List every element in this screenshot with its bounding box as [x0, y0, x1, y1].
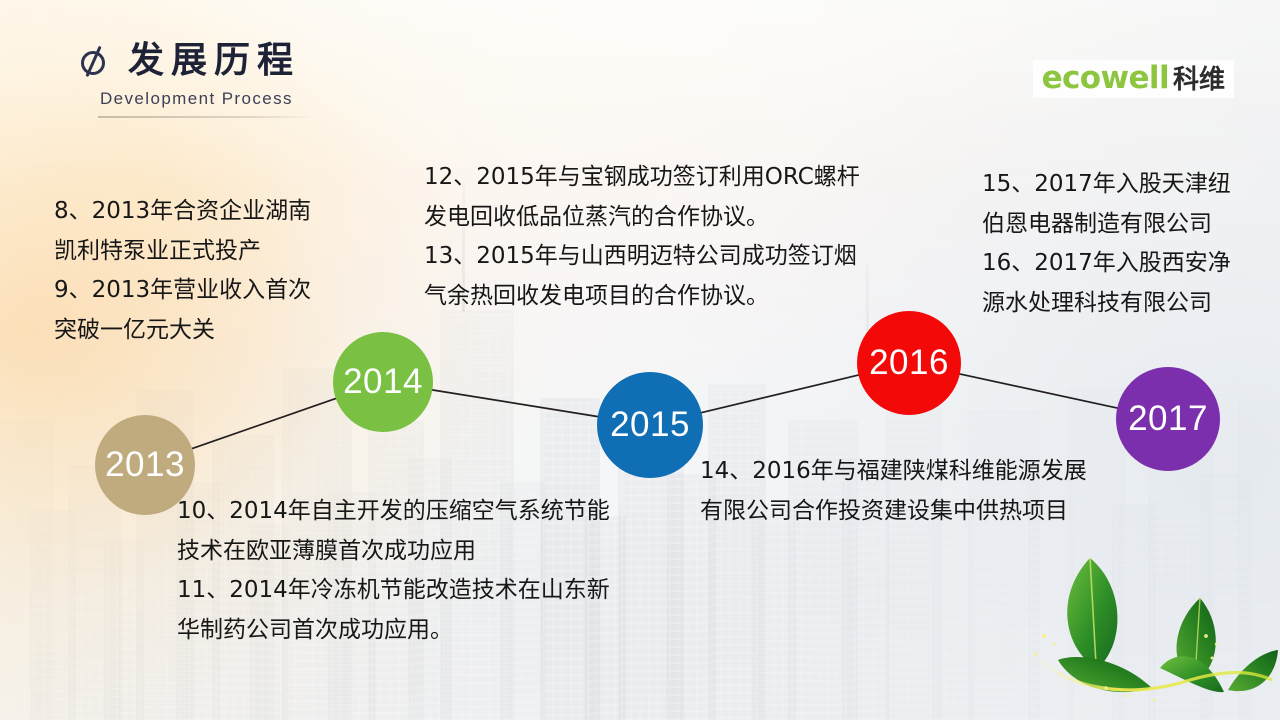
text-line: 发电回收低品位蒸汽的合作协议。 — [424, 198, 930, 238]
timeline-node-2016[interactable]: 2016 — [857, 311, 961, 415]
text-line: 9、2013年营业收入首次 — [54, 271, 354, 311]
timeline-node-label: 2014 — [343, 362, 423, 402]
timeline-node-label: 2016 — [869, 343, 949, 383]
text-line: 16、2017年入股西安净 — [982, 244, 1258, 284]
timeline-node-2015[interactable]: 2015 — [597, 372, 703, 478]
timeline-node-label: 2015 — [610, 405, 690, 445]
text-line: 凯利特泵业正式投产 — [54, 232, 354, 272]
slide-canvas: 发展历程 Development Process ecowell 科维 2013… — [0, 0, 1280, 720]
text-line: 14、2016年与福建陕煤科维能源发展 — [700, 452, 1152, 492]
text-line: 伯恩电器制造有限公司 — [982, 205, 1258, 245]
text-line: 10、2014年自主开发的压缩空气系统节能 — [177, 492, 689, 532]
block-2014: 10、2014年自主开发的压缩空气系统节能技术在欧亚薄膜首次成功应用11、201… — [177, 492, 689, 650]
timeline-node-label: 2013 — [105, 445, 185, 485]
text-line: 突破一亿元大关 — [54, 311, 354, 351]
text-line: 12、2015年与宝钢成功签订利用ORC螺杆 — [424, 158, 930, 198]
block-2017: 15、2017年入股天津纽伯恩电器制造有限公司16、2017年入股西安净源水处理… — [982, 165, 1258, 323]
text-line: 有限公司合作投资建设集中供热项目 — [700, 492, 1152, 532]
text-line: 源水处理科技有限公司 — [982, 284, 1258, 324]
text-line: 13、2015年与山西明迈特公司成功签订烟 — [424, 237, 930, 277]
text-line: 11、2014年冷冻机节能改造技术在山东新 — [177, 571, 689, 611]
block-2016: 14、2016年与福建陕煤科维能源发展有限公司合作投资建设集中供热项目 — [700, 452, 1152, 531]
text-line: 15、2017年入股天津纽 — [982, 165, 1258, 205]
block-2015: 12、2015年与宝钢成功签订利用ORC螺杆发电回收低品位蒸汽的合作协议。13、… — [424, 158, 930, 316]
text-line: 华制药公司首次成功应用。 — [177, 611, 689, 651]
text-line: 气余热回收发电项目的合作协议。 — [424, 277, 930, 317]
block-2013: 8、2013年合资企业湖南凯利特泵业正式投产9、2013年营业收入首次突破一亿元… — [54, 192, 354, 350]
text-line: 技术在欧亚薄膜首次成功应用 — [177, 532, 689, 572]
timeline-node-label: 2017 — [1128, 399, 1208, 439]
text-line: 8、2013年合资企业湖南 — [54, 192, 354, 232]
